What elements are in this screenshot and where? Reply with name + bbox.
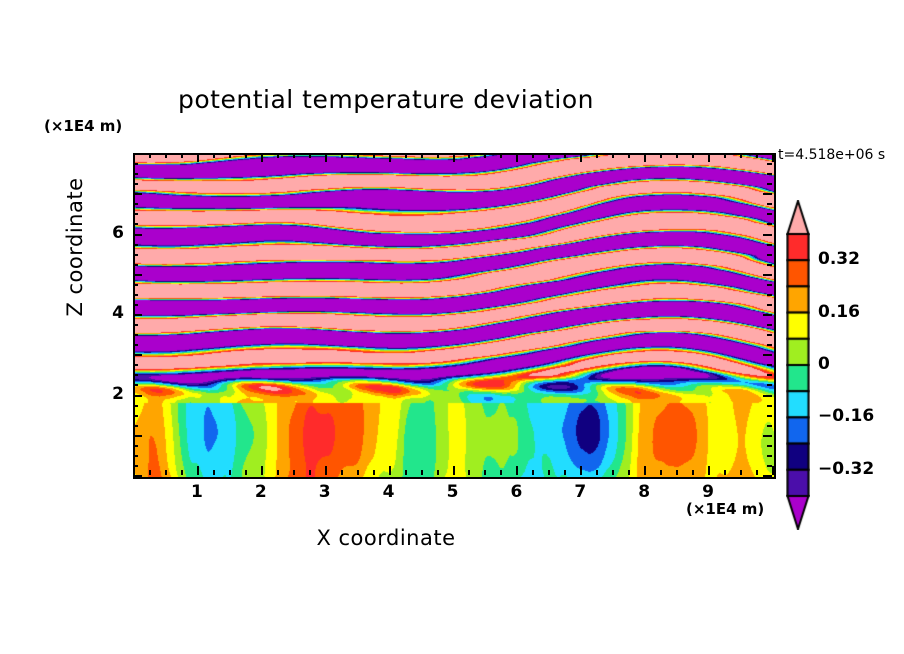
x-tick [724, 153, 726, 158]
x-tick [692, 470, 694, 475]
y-tick [767, 304, 772, 306]
contour-field [135, 155, 774, 477]
y-tick [767, 324, 772, 326]
x-tick [484, 470, 486, 475]
y-tick [133, 425, 138, 427]
x-tick [389, 466, 391, 475]
y-tick [133, 203, 138, 205]
x-tick [229, 153, 231, 158]
y-tick [767, 465, 772, 467]
x-tick [421, 153, 423, 158]
x-tick [373, 153, 375, 158]
x-tick-label: 9 [693, 482, 723, 502]
x-tick-label: 6 [501, 482, 531, 502]
y-tick [767, 425, 772, 427]
x-tick [708, 153, 710, 162]
x-tick [468, 153, 470, 158]
y-tick [767, 294, 772, 296]
x-tick [516, 153, 518, 162]
x-tick-label: 3 [310, 482, 340, 502]
y-tick [133, 364, 138, 366]
x-tick [692, 153, 694, 158]
x-tick [181, 470, 183, 475]
x-tick [580, 466, 582, 475]
y-tick [133, 314, 142, 316]
y-tick [133, 455, 138, 457]
x-tick [421, 470, 423, 475]
x-tick [181, 153, 183, 158]
y-tick [767, 203, 772, 205]
y-tick [133, 475, 142, 477]
x-tick [293, 470, 295, 475]
y-tick [133, 223, 138, 225]
y-tick [767, 405, 772, 407]
y-tick [133, 384, 138, 386]
x-tick [341, 153, 343, 158]
x-tick [724, 470, 726, 475]
x-tick [261, 466, 263, 475]
y-tick [767, 213, 772, 215]
x-tick [277, 470, 279, 475]
x-tick [405, 153, 407, 158]
x-tick [389, 153, 391, 162]
y-tick [767, 415, 772, 417]
y-axis-unit-label: (×1E4 m) [44, 117, 122, 135]
y-tick [133, 193, 142, 195]
x-tick [628, 153, 630, 158]
x-tick [277, 153, 279, 158]
y-tick [133, 163, 138, 165]
x-tick [644, 466, 646, 475]
y-tick [133, 274, 142, 276]
y-tick [767, 173, 772, 175]
x-tick [596, 153, 598, 158]
x-tick [373, 470, 375, 475]
y-tick [767, 163, 772, 165]
x-tick [740, 470, 742, 475]
x-tick [197, 466, 199, 475]
x-tick [612, 153, 614, 158]
x-tick [756, 153, 758, 158]
x-tick [660, 470, 662, 475]
y-tick [767, 455, 772, 457]
y-tick [763, 435, 772, 437]
y-tick [763, 274, 772, 276]
y-tick [763, 234, 772, 236]
colorbar-tick-label: 0 [818, 354, 830, 374]
x-tick [325, 466, 327, 475]
x-tick [149, 470, 151, 475]
x-tick-label: 8 [629, 482, 659, 502]
y-tick [767, 374, 772, 376]
colorbar-tick-label: 0.32 [818, 249, 860, 269]
x-tick [133, 466, 135, 475]
contour-plot-frame [133, 153, 776, 479]
y-tick [133, 183, 138, 185]
y-tick [133, 264, 138, 266]
y-tick [133, 324, 138, 326]
y-tick [133, 213, 138, 215]
y-tick [767, 244, 772, 246]
y-tick [767, 364, 772, 366]
x-tick [484, 153, 486, 158]
x-tick [261, 153, 263, 162]
x-tick [213, 153, 215, 158]
x-tick [500, 470, 502, 475]
y-tick-label: 6 [94, 223, 124, 243]
x-tick [548, 470, 550, 475]
y-tick [133, 405, 138, 407]
x-tick [660, 153, 662, 158]
x-tick-label: 7 [565, 482, 595, 502]
y-tick [133, 234, 142, 236]
y-tick [133, 173, 138, 175]
x-tick [532, 153, 534, 158]
x-tick [309, 153, 311, 158]
y-tick [133, 334, 138, 336]
y-tick [763, 475, 772, 477]
y-tick [133, 374, 138, 376]
y-tick [763, 354, 772, 356]
x-tick [309, 470, 311, 475]
y-tick [133, 294, 138, 296]
x-tick [772, 466, 774, 475]
x-tick [596, 470, 598, 475]
y-tick [133, 244, 138, 246]
y-tick [767, 264, 772, 266]
x-tick [708, 466, 710, 475]
x-tick [644, 153, 646, 162]
x-tick-label: 2 [246, 482, 276, 502]
colorbar-tick-label: −0.32 [818, 459, 874, 479]
x-tick-label: 4 [374, 482, 404, 502]
y-tick [133, 445, 138, 447]
x-tick [229, 470, 231, 475]
colorbar-gradient [786, 200, 810, 530]
x-tick [437, 470, 439, 475]
y-tick [767, 445, 772, 447]
y-tick [767, 344, 772, 346]
y-tick [133, 344, 138, 346]
colorbar-tick-label: 0.16 [818, 302, 860, 322]
y-tick [767, 183, 772, 185]
y-tick [763, 153, 772, 155]
x-tick [516, 466, 518, 475]
x-tick [740, 153, 742, 158]
x-tick [580, 153, 582, 162]
y-tick [767, 223, 772, 225]
x-tick [676, 153, 678, 158]
y-tick-label: 4 [94, 303, 124, 323]
x-tick [357, 153, 359, 158]
x-tick [405, 470, 407, 475]
y-tick [133, 465, 138, 467]
x-tick [165, 153, 167, 158]
y-tick [133, 435, 142, 437]
y-tick [133, 415, 138, 417]
x-tick-label: 1 [182, 482, 212, 502]
x-tick [676, 470, 678, 475]
x-tick [293, 153, 295, 158]
y-tick [767, 384, 772, 386]
y-tick [763, 314, 772, 316]
x-tick [245, 470, 247, 475]
x-tick [628, 470, 630, 475]
x-tick [772, 153, 774, 162]
y-tick [767, 334, 772, 336]
x-tick [756, 470, 758, 475]
x-axis-unit-label: (×1E4 m) [686, 500, 764, 518]
colorbar [786, 200, 810, 530]
x-tick [468, 470, 470, 475]
y-tick [767, 254, 772, 256]
y-tick [763, 193, 772, 195]
y-tick [133, 304, 138, 306]
y-tick [133, 254, 138, 256]
x-tick [325, 153, 327, 162]
x-tick [165, 470, 167, 475]
time-annotation: t=4.518e+06 s [778, 147, 885, 163]
y-tick [767, 284, 772, 286]
x-tick-label: 5 [438, 482, 468, 502]
y-tick-label: 2 [94, 384, 124, 404]
x-tick [564, 470, 566, 475]
x-tick [548, 153, 550, 158]
colorbar-tick-label: −0.16 [818, 406, 874, 426]
y-tick [133, 395, 142, 397]
x-tick [197, 153, 199, 162]
y-tick [763, 395, 772, 397]
x-axis-title: X coordinate [0, 526, 772, 550]
x-tick [612, 470, 614, 475]
x-tick [341, 470, 343, 475]
x-tick [357, 470, 359, 475]
x-tick [532, 470, 534, 475]
x-tick [500, 153, 502, 158]
page-title: potential temperature deviation [0, 85, 772, 114]
y-tick [133, 354, 142, 356]
y-tick [133, 153, 142, 155]
x-tick [149, 153, 151, 158]
x-tick [213, 470, 215, 475]
y-tick [133, 284, 138, 286]
x-tick [245, 153, 247, 158]
x-tick [437, 153, 439, 158]
y-axis-title: Z coordinate [63, 147, 87, 347]
x-tick [564, 153, 566, 158]
x-tick [453, 153, 455, 162]
x-tick [453, 466, 455, 475]
